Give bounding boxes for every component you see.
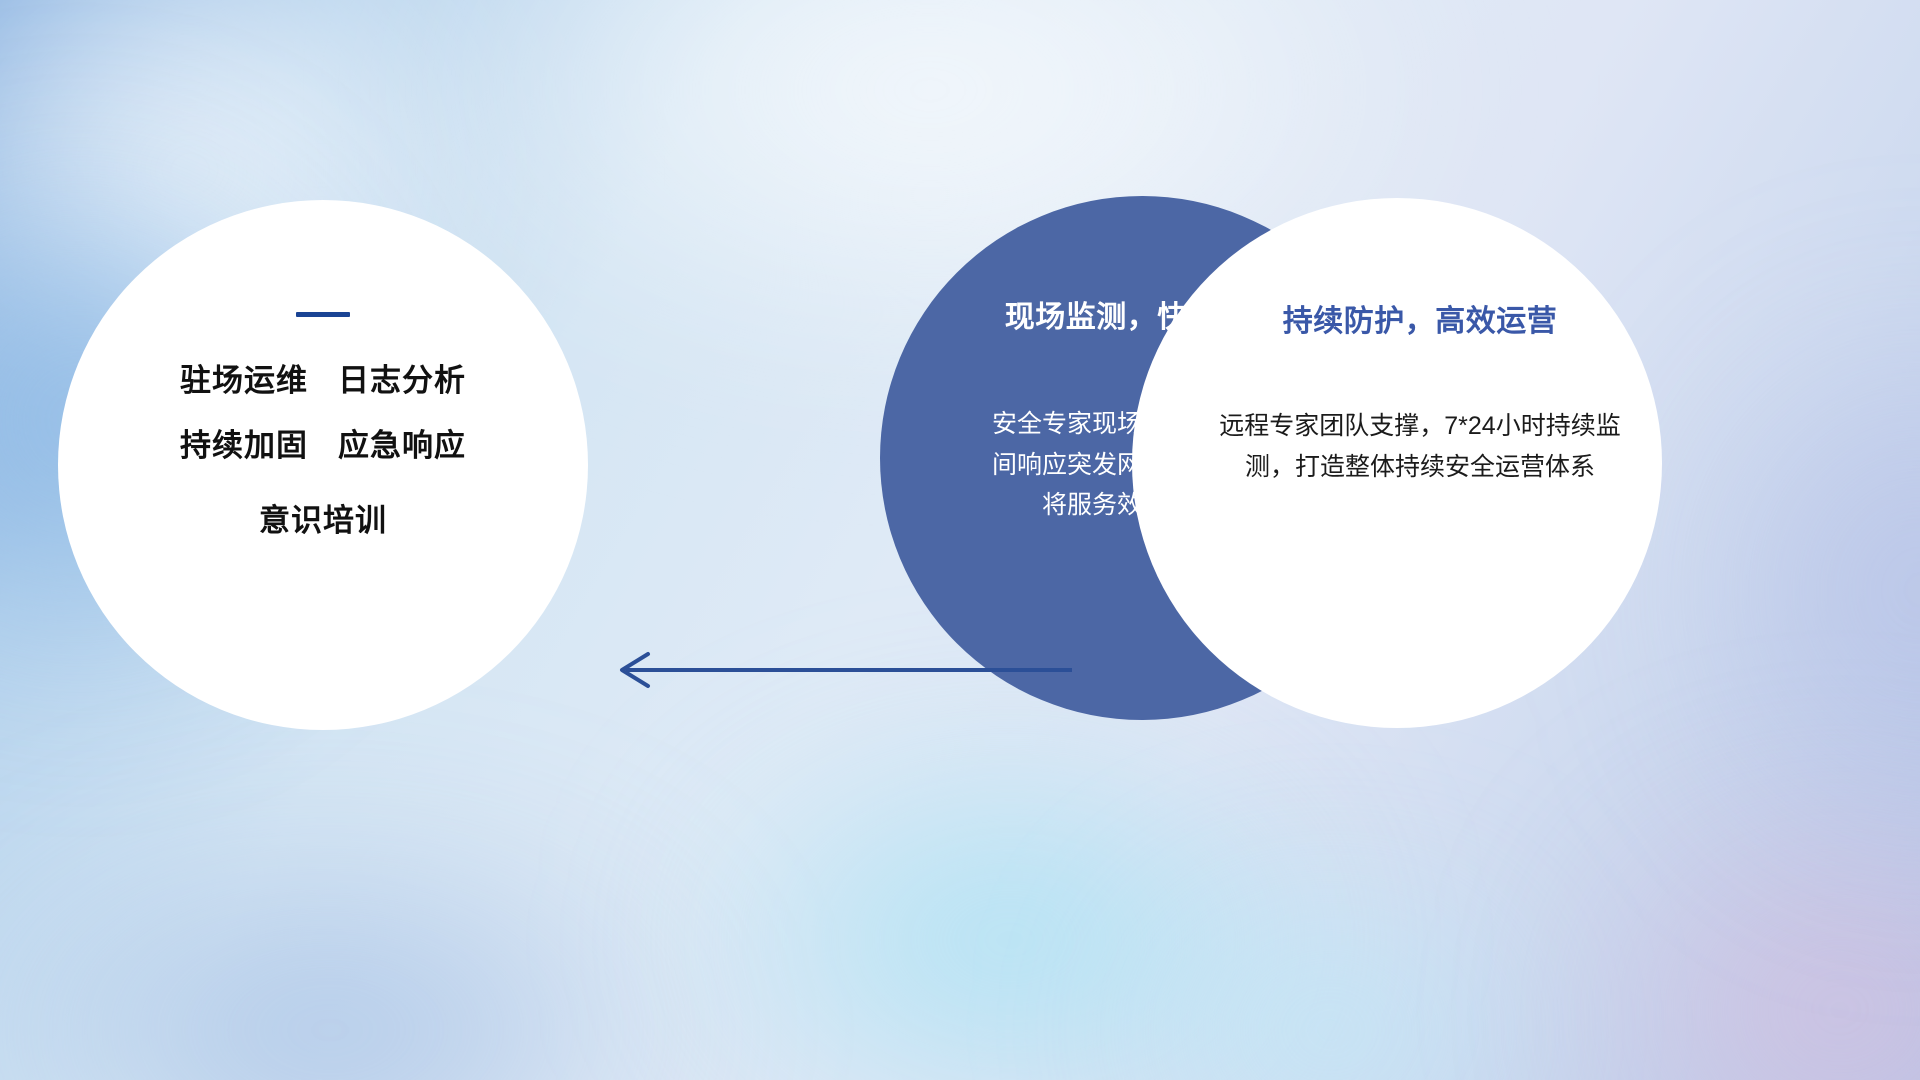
right-card-title: 持续防护，高效运营 [1283, 296, 1558, 340]
capability-label: 日志分析 [338, 363, 466, 398]
capability-row-1: 驻场运维日志分析 [180, 365, 466, 396]
slide-canvas: 驻场运维日志分析 持续加固应急响应 意识培训 现场监测，快速响应 安全专家现场保… [0, 0, 1920, 1080]
capability-label: 应急响应 [338, 428, 466, 463]
capability-label: 驻场运维 [180, 363, 308, 398]
right-card-body: 远程专家团队支撑，7*24小时持续监测，打造整体持续安全运营体系 [1210, 406, 1630, 487]
accent-dash-divider [296, 312, 350, 317]
capability-row-2: 持续加固应急响应 [180, 430, 466, 461]
left-capability-content: 驻场运维日志分析 持续加固应急响应 意识培训 [58, 200, 588, 730]
right-service-content: 持续防护，高效运营 远程专家团队支撑，7*24小时持续监测，打造整体持续安全运营… [1132, 198, 1662, 728]
capability-row-3: 意识培训 [259, 505, 387, 536]
capability-label: 持续加固 [180, 428, 308, 463]
